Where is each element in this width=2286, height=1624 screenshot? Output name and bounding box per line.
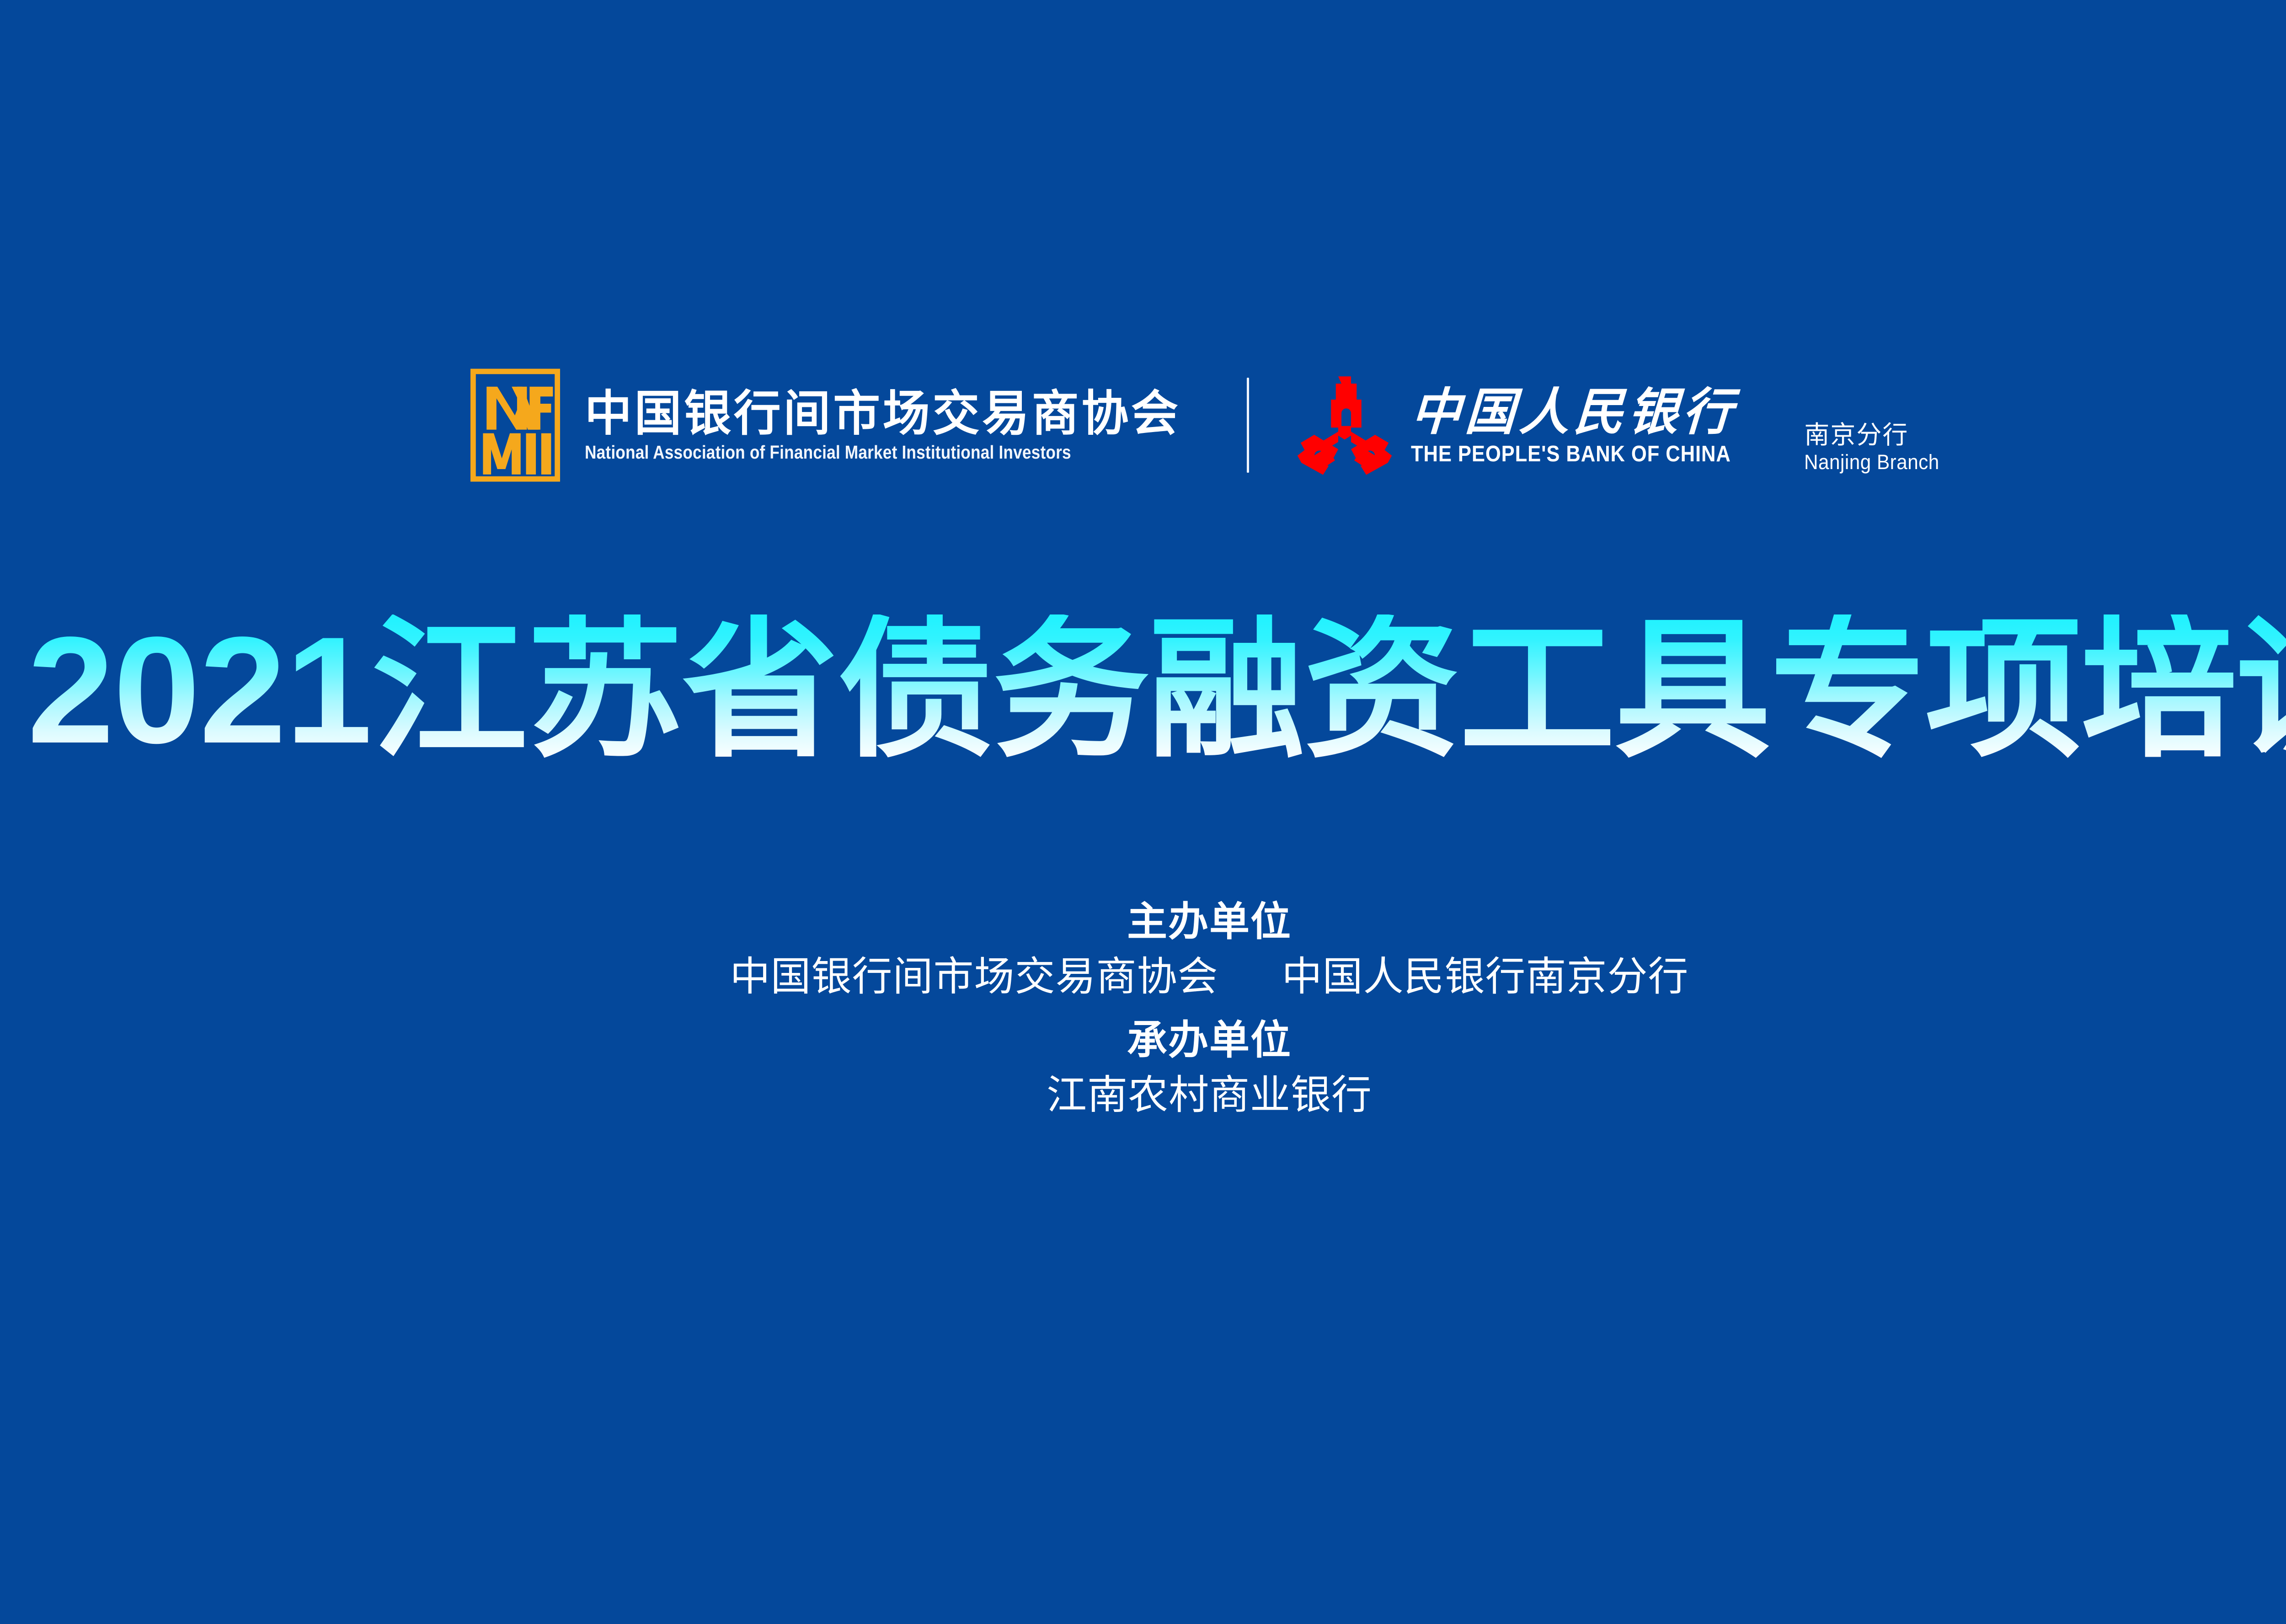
pboc-branch-chinese: 南京分行 [1804,420,1948,450]
nafmii-logo-mark [470,369,560,482]
pboc-logo-group: 中国人民银行 THE PEOPLE'S BANK OF CHINA 南京分行 N… [1297,368,1948,482]
host-name-1: 中国银行间市场交易商协会 [730,954,1218,999]
host-name-2: 中国人民银行南京分行 [1282,954,1688,999]
nafmii-english-name: National Association of Financial Market… [585,442,1113,463]
organizer-name-1: 江南农村商业银行 [1047,1072,1372,1117]
main-title-wrap: 2021江苏省债务融资工具专项培训 [0,594,2286,786]
poster-canvas: 中国银行间市场交易商协会 National Association of Fin… [0,0,2286,1624]
pboc-text-block: 中国人民银行 THE PEOPLE'S BANK OF CHINA [1411,385,1770,466]
nafmii-logo-group: 中国银行间市场交易商协会 National Association of Fin… [470,369,1199,482]
logo-bar: 中国银行间市场交易商协会 National Association of Fin… [0,352,2286,498]
host-names: 中国银行间市场交易商协会 中国人民银行南京分行 [0,951,2286,1003]
organizer-label: 承办单位 [0,1015,2286,1066]
main-title: 2021江苏省债务融资工具专项培训 [27,614,2286,766]
host-label: 主办单位 [0,896,2286,948]
nafmii-chinese-name: 中国银行间市场交易商协会 [585,388,1181,440]
organizer-names: 江南农村商业银行 [0,1069,2286,1121]
pboc-branch-english: Nanjing Branch [1804,450,1939,474]
pboc-logo-mark [1297,368,1393,482]
organizer-section: 主办单位 中国银行间市场交易商协会 中国人民银行南京分行 承办单位 江南农村商业… [0,896,2286,1121]
pboc-branch-block: 南京分行 Nanjing Branch [1804,420,1948,482]
pboc-english-name: THE PEOPLE'S BANK OF CHINA [1411,443,1731,466]
nafmii-text-block: 中国银行间市场交易商协会 National Association of Fin… [585,388,1199,463]
pboc-chinese-name: 中国人民银行 [1410,385,1768,441]
logo-divider [1247,378,1249,473]
